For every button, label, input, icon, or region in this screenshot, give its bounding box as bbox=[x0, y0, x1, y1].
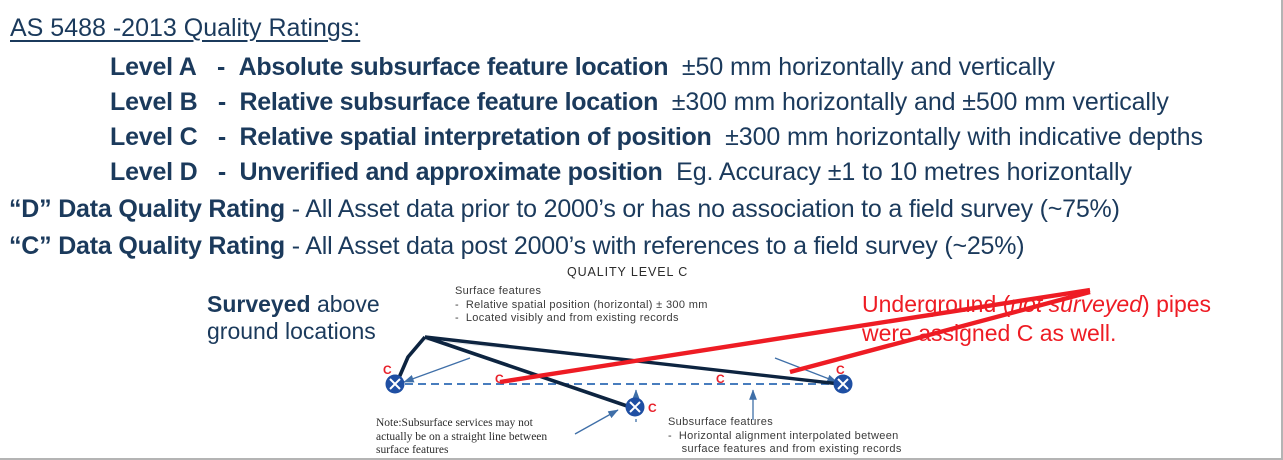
surveyed-callout-bold: Surveyed bbox=[207, 291, 311, 317]
page-title: AS 5488 -2013 Quality Ratings: bbox=[10, 14, 360, 43]
level-a-dash: - bbox=[217, 53, 225, 81]
diagram-title: QUALITY LEVEL C bbox=[567, 265, 688, 279]
c-label-mid-right: C bbox=[716, 372, 725, 386]
level-a-label: Level A bbox=[110, 53, 197, 81]
level-c-dash: - bbox=[218, 123, 226, 151]
level-b-line: Level B - Relative subsurface feature lo… bbox=[110, 88, 1169, 117]
rating-d-line: “D” Data Quality Rating - All Asset data… bbox=[9, 195, 1120, 224]
underground-callout-post: ) pipes bbox=[1142, 291, 1211, 317]
c-label-mid-left: C bbox=[495, 372, 504, 386]
subsurface-marker-center bbox=[626, 398, 645, 417]
level-d-label: Level D bbox=[110, 158, 198, 186]
level-a-description: Absolute subsurface feature location bbox=[239, 53, 669, 81]
underground-callout-pre: Underground ( bbox=[862, 291, 1010, 317]
level-a-line: Level A - Absolute subsurface feature lo… bbox=[110, 53, 1055, 82]
rating-c-detail: - All Asset data post 2000’s with refere… bbox=[285, 232, 1024, 260]
level-d-dash: - bbox=[218, 158, 226, 186]
note-text: Note:Subsurface services may not actuall… bbox=[376, 417, 547, 458]
underground-callout-line2: were assigned C as well. bbox=[862, 320, 1116, 346]
subsurface-features-text: Subsurface features - Horizontal alignme… bbox=[668, 416, 902, 457]
level-c-label: Level C bbox=[110, 123, 198, 151]
c-label-left: C bbox=[383, 363, 392, 377]
underground-callout: Underground (not surveyed) pipeswere ass… bbox=[862, 290, 1211, 348]
rating-d-label: “D” Data Quality Rating bbox=[9, 195, 285, 223]
rating-c-line: “C” Data Quality Rating - All Asset data… bbox=[9, 232, 1024, 261]
rating-c-label: “C” Data Quality Rating bbox=[9, 232, 285, 260]
surface-marker-right bbox=[834, 375, 853, 394]
level-d-description: Unverified and approximate position bbox=[240, 158, 663, 186]
level-b-detail: ±300 mm horizontally and ±500 mm vertica… bbox=[672, 88, 1169, 116]
quality-level-c-diagram: QUALITY LEVEL C Surface features - Relat… bbox=[0, 262, 1283, 460]
level-c-description: Relative spatial interpretation of posit… bbox=[240, 123, 712, 151]
level-b-dash: - bbox=[218, 88, 226, 116]
leader-arrow-left bbox=[404, 358, 470, 382]
level-a-detail: ±50 mm horizontally and vertically bbox=[682, 53, 1055, 81]
surveyed-leader-left bbox=[398, 337, 425, 380]
surface-features-text: Surface features - Relative spatial posi… bbox=[455, 285, 708, 326]
level-c-detail: ±300 mm horizontally with indicative dep… bbox=[725, 123, 1203, 151]
leader-arrow-note bbox=[575, 410, 618, 434]
level-c-line: Level C - Relative spatial interpretatio… bbox=[110, 123, 1203, 152]
level-b-label: Level B bbox=[110, 88, 198, 116]
rating-d-detail: - All Asset data prior to 2000’s or has … bbox=[285, 195, 1120, 223]
slide-canvas: AS 5488 -2013 Quality Ratings: Level A -… bbox=[0, 0, 1283, 460]
level-d-line: Level D - Unverified and approximate pos… bbox=[110, 158, 1132, 187]
level-d-detail: Eg. Accuracy ±1 to 10 metres horizontall… bbox=[676, 158, 1132, 186]
surface-marker-left bbox=[386, 375, 405, 394]
underground-callout-italic: not surveyed bbox=[1010, 291, 1142, 317]
level-b-description: Relative subsurface feature location bbox=[240, 88, 659, 116]
c-label-right: C bbox=[836, 363, 845, 377]
c-label-subsurface: C bbox=[648, 401, 657, 415]
surveyed-callout: Surveyed above ground locations bbox=[207, 291, 380, 345]
